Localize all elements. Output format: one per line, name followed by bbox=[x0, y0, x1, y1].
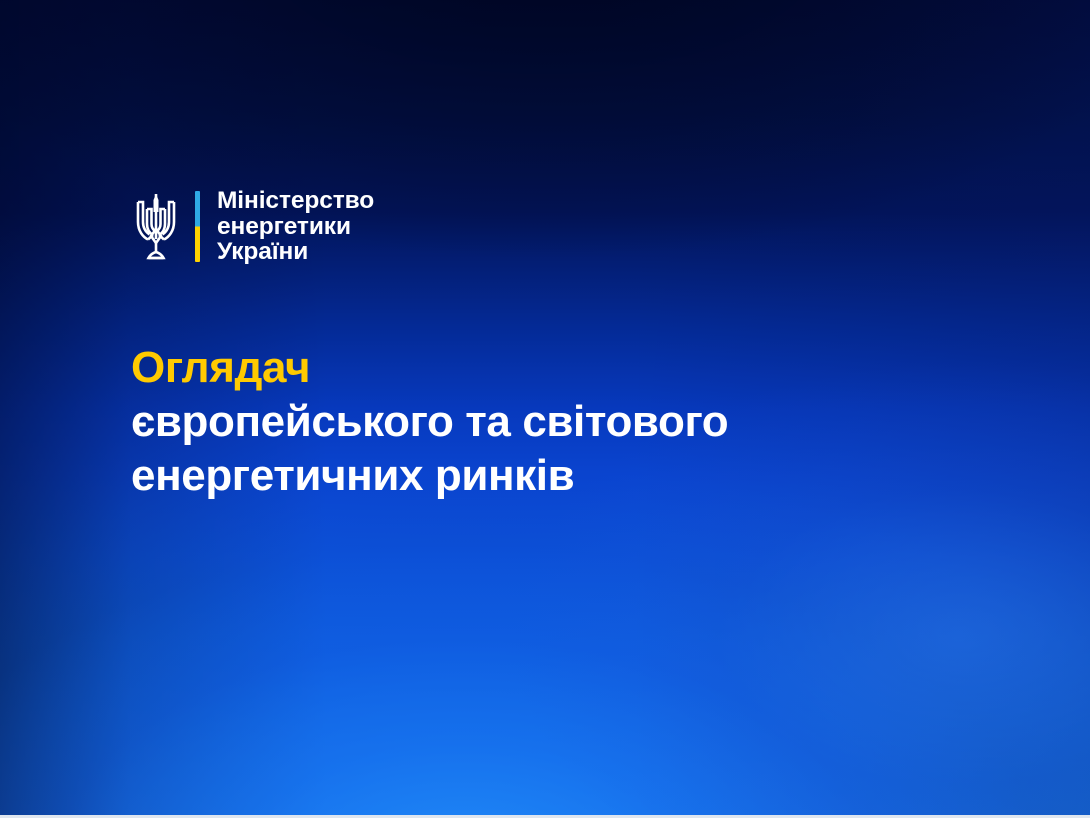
ministry-name-line-3: України bbox=[217, 239, 374, 265]
title-line-1: Оглядач bbox=[131, 341, 971, 395]
title-line-3: енергетичних ринків bbox=[131, 449, 971, 503]
title-slide: Міністерство енергетики України Оглядач … bbox=[0, 0, 1090, 818]
ukrainian-trident-icon bbox=[133, 191, 179, 261]
slide-title: Оглядач європейського та світового енерг… bbox=[131, 341, 971, 503]
title-line-2: європейського та світового bbox=[131, 395, 971, 449]
ministry-name-line-2: енергетики bbox=[217, 214, 374, 240]
ministry-logo: Міністерство енергетики України bbox=[133, 188, 374, 265]
ministry-name-line-1: Міністерство bbox=[217, 188, 374, 214]
logo-divider-bar bbox=[195, 191, 200, 262]
slide-content: Міністерство енергетики України Оглядач … bbox=[0, 0, 1090, 818]
ministry-name: Міністерство енергетики України bbox=[217, 188, 374, 265]
